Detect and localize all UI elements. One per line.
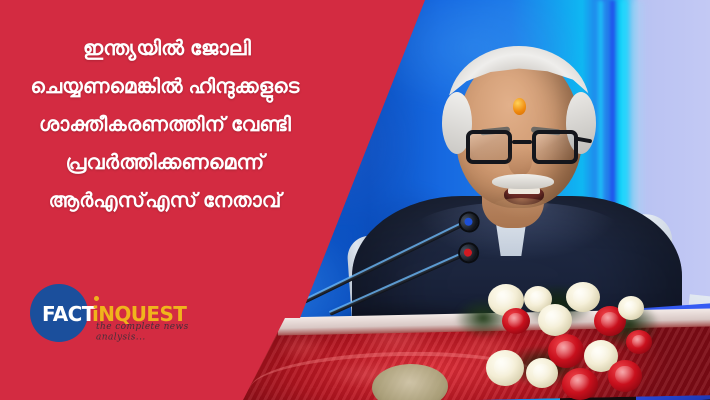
glasses-bridge [512,140,532,144]
logo-fact-text: FACT [42,302,95,326]
news-card: ഇന്ത്യയിൽ ജോലി ചെയ്യണമെങ്കിൽ ഹിന്ദുക്കളു… [0,0,710,400]
logo-dot-icon [94,296,99,301]
headline-line-4: പ്രവർത്തിക്കണമെന്ന് [0,144,330,182]
headline-line-3: ശാക്തീകരണത്തിന് വേണ്ടി [0,106,330,144]
nose [508,146,532,176]
headline-line-1: ഇന്ത്യയിൽ ജോലി [0,30,330,68]
factinquest-logo[interactable]: FACT iNQUEST the complete news analysis.… [30,282,230,344]
rose-red [562,368,598,400]
tilak-mark [513,98,526,115]
headline-line-5: ആർഎസ്എസ് നേതാവ് [0,182,330,220]
rose-white [538,304,572,336]
logo-tagline: the complete news analysis... [96,322,230,343]
rose-red [608,360,642,392]
headline-line-2: ചെയ്യണമെങ്കിൽ ഹിന്ദുക്കളുടെ [0,68,330,106]
rose-red [502,308,530,334]
chin [490,198,552,218]
lens-right [532,130,578,164]
rose-white [526,358,558,388]
moustache [492,174,554,189]
rose-white [618,296,644,320]
lens-left [466,130,512,164]
headline: ഇന്ത്യയിൽ ജോലി ചെയ്യണമെങ്കിൽ ഹിന്ദുക്കളു… [0,30,330,220]
rose-red [626,330,652,354]
rose-white [566,282,600,312]
rose-white [486,350,524,386]
